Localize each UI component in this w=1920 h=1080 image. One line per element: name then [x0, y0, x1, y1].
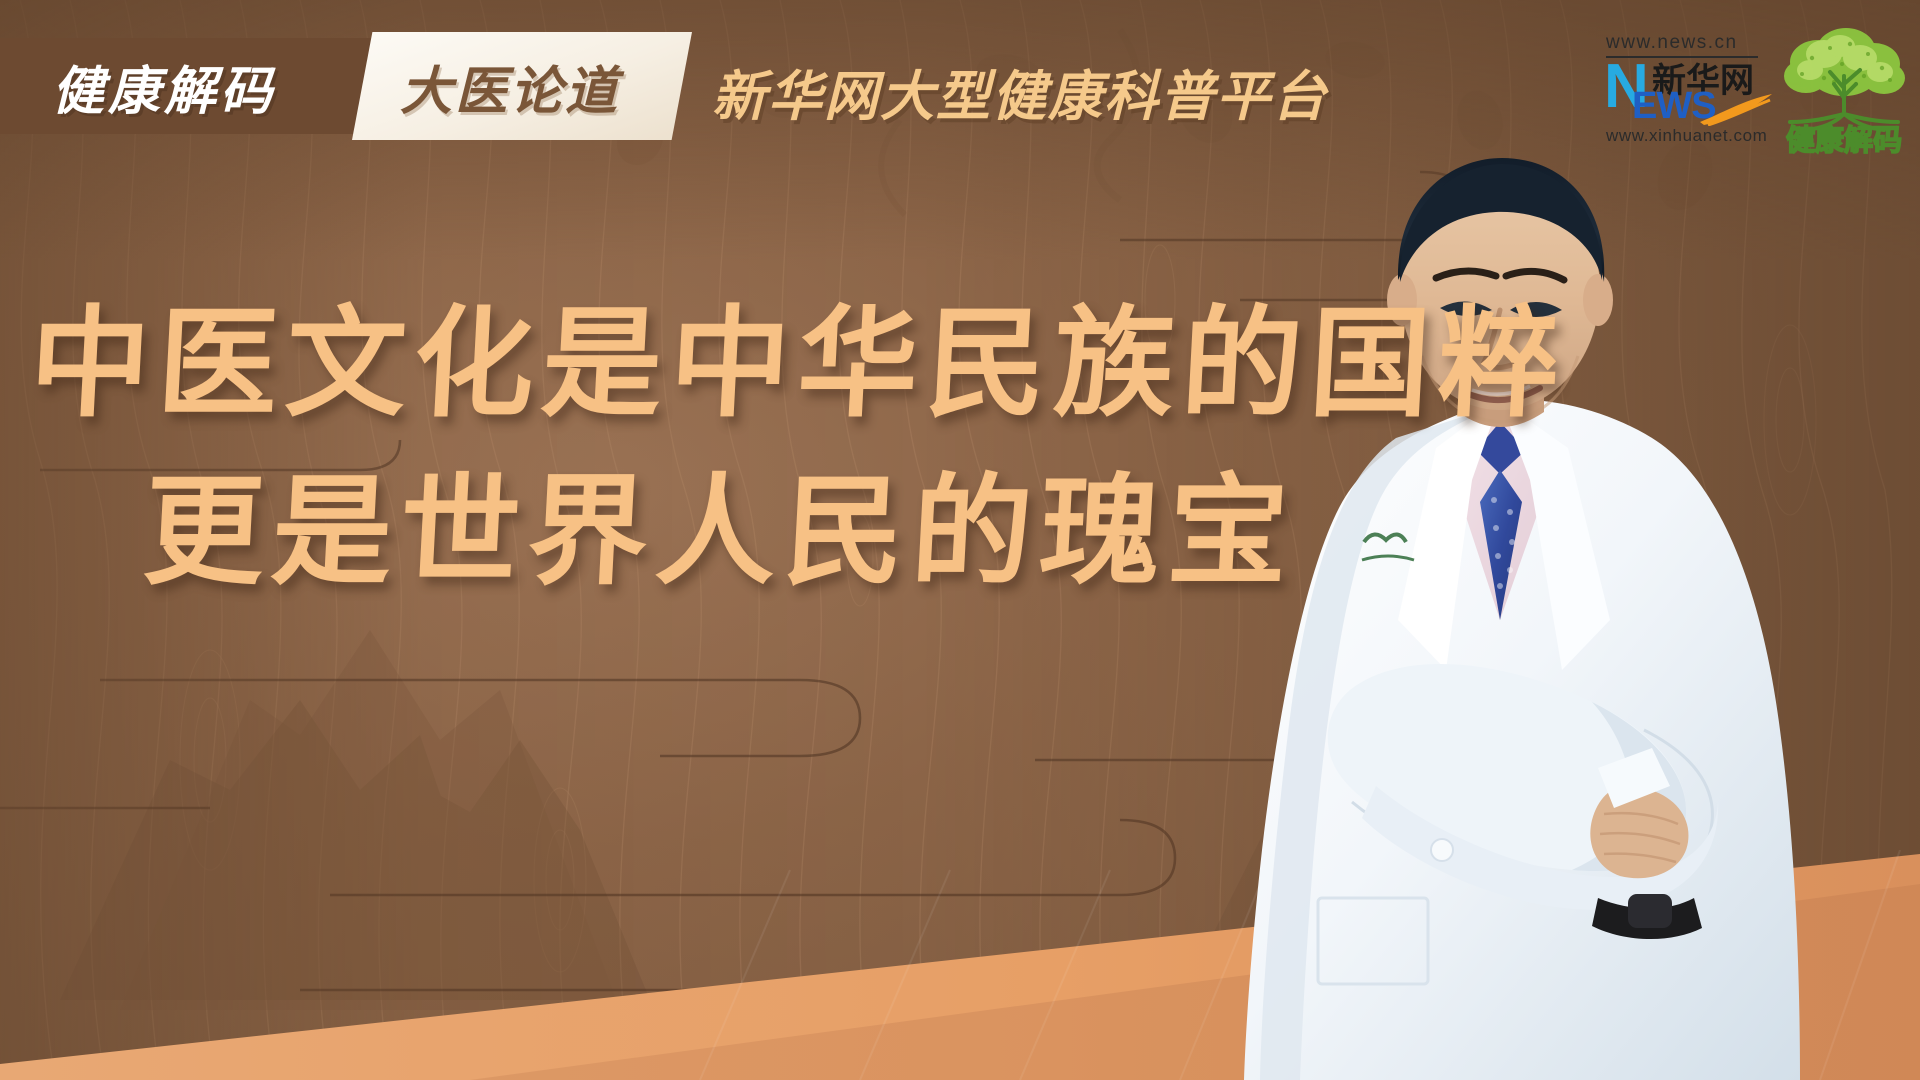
badge-health-decode[interactable]: 健康解码	[0, 38, 380, 134]
badge-health-decode-label: 健康解码	[52, 49, 276, 124]
xinhua-logo[interactable]: www.news.cn N 新华网 EWS www.xinhuanet.com	[1606, 32, 1774, 146]
tree-logo-label-glyphs: 健康解码	[1786, 123, 1902, 157]
main-title-line-1: 中医文化是中华民族的国粹	[0, 280, 1424, 448]
badge-great-doctor-forum[interactable]: 大医论道	[352, 32, 692, 140]
main-title-line-2: 更是世界人民的瑰宝	[0, 448, 1424, 616]
xinhua-url-bottom: www.xinhuanet.com	[1606, 126, 1774, 146]
health-decode-tree-logo[interactable]: 健康解码	[1772, 18, 1916, 160]
xinhua-swoosh-icon	[1698, 92, 1774, 126]
header-banner: 健康解码 大医论道	[0, 38, 700, 134]
header-subtitle: 新华网大型健康科普平台	[712, 52, 1328, 131]
tree-icon	[1784, 28, 1905, 130]
main-title: 中医文化是中华民族的国粹 更是世界人民的瑰宝	[0, 280, 1420, 616]
svg-text:健康解码: 健康解码	[1786, 123, 1902, 157]
badge-great-doctor-forum-label: 大医论道	[400, 49, 620, 124]
poster-canvas: 健康解码 大医论道 新华网大型健康科普平台 www.news.cn N 新华网 …	[0, 0, 1920, 1080]
